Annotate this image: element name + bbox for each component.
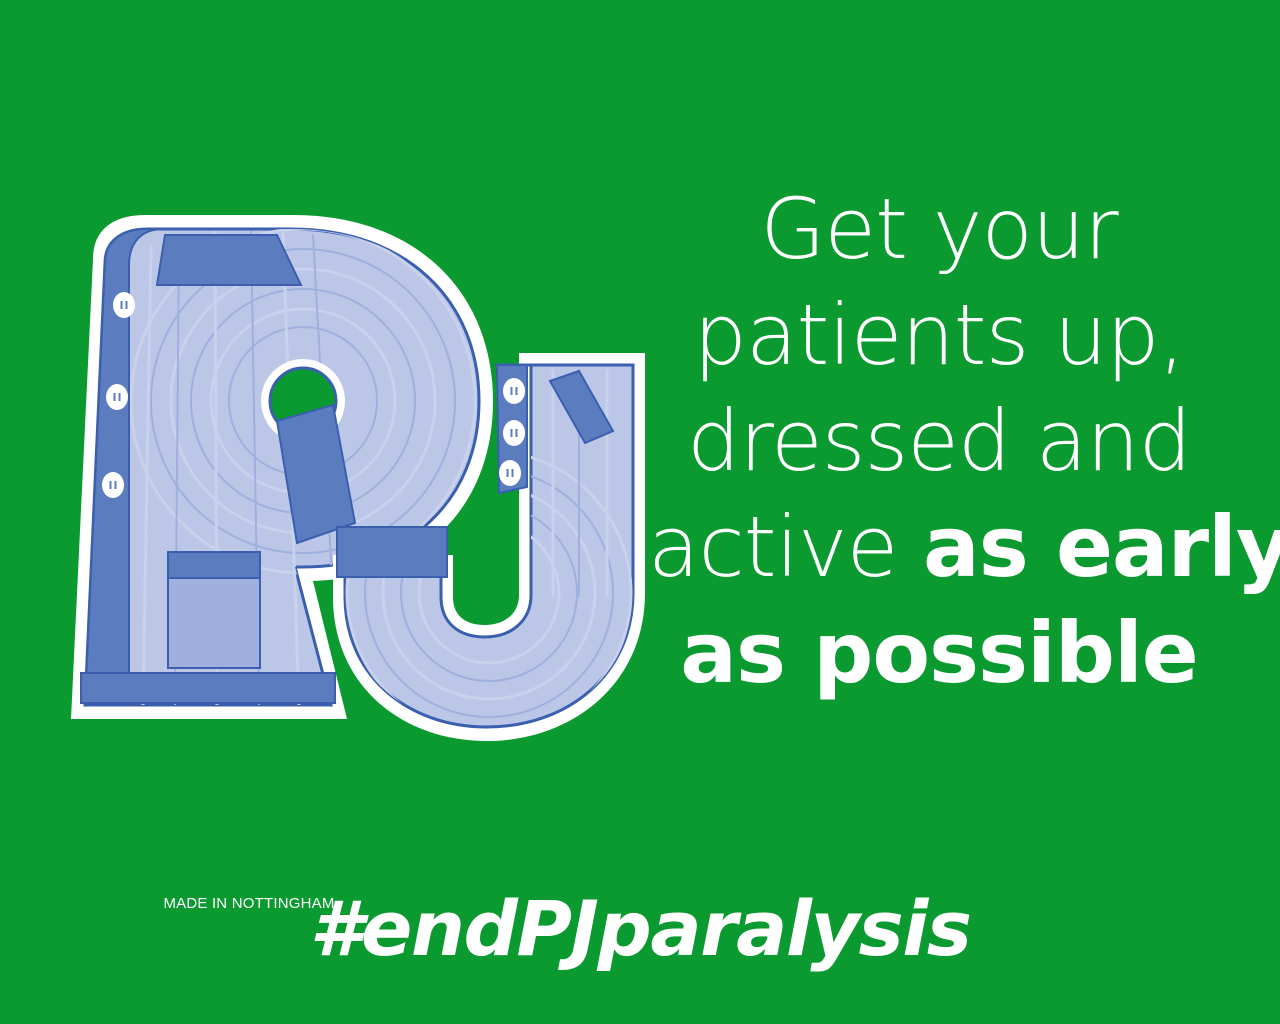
- headline-line-3-light: dressed and: [687, 392, 1191, 490]
- headline-line-2: patients up,: [648, 282, 1230, 388]
- headline-line-1-light: Get your: [760, 180, 1117, 278]
- headline-line-4-light: active: [648, 498, 923, 596]
- j-cuff-block: [337, 527, 447, 577]
- pj-logo-graphic: [55, 205, 675, 765]
- p-collar: [157, 235, 301, 285]
- p-pocket: [168, 552, 260, 668]
- pj-logo: MADE IN NOTTINGHAM: [55, 205, 675, 765]
- headline-line-4-bold: as early: [923, 498, 1280, 596]
- poster-canvas: MADE IN NOTTINGHAM Get your patients up,…: [0, 0, 1280, 1024]
- headline: Get your patients up, dressed and active…: [648, 176, 1230, 706]
- headline-line-2-light: patients up,: [694, 286, 1185, 384]
- headline-line-1: Get your: [648, 176, 1230, 282]
- headline-line-5-bold: as possible: [680, 604, 1197, 702]
- headline-line-4: active as early: [648, 494, 1230, 600]
- hashtag: #endPJparalysis: [0, 884, 1280, 973]
- headline-line-3: dressed and: [648, 388, 1230, 494]
- headline-line-5: as possible: [648, 600, 1230, 706]
- p-hem-band: [81, 673, 335, 703]
